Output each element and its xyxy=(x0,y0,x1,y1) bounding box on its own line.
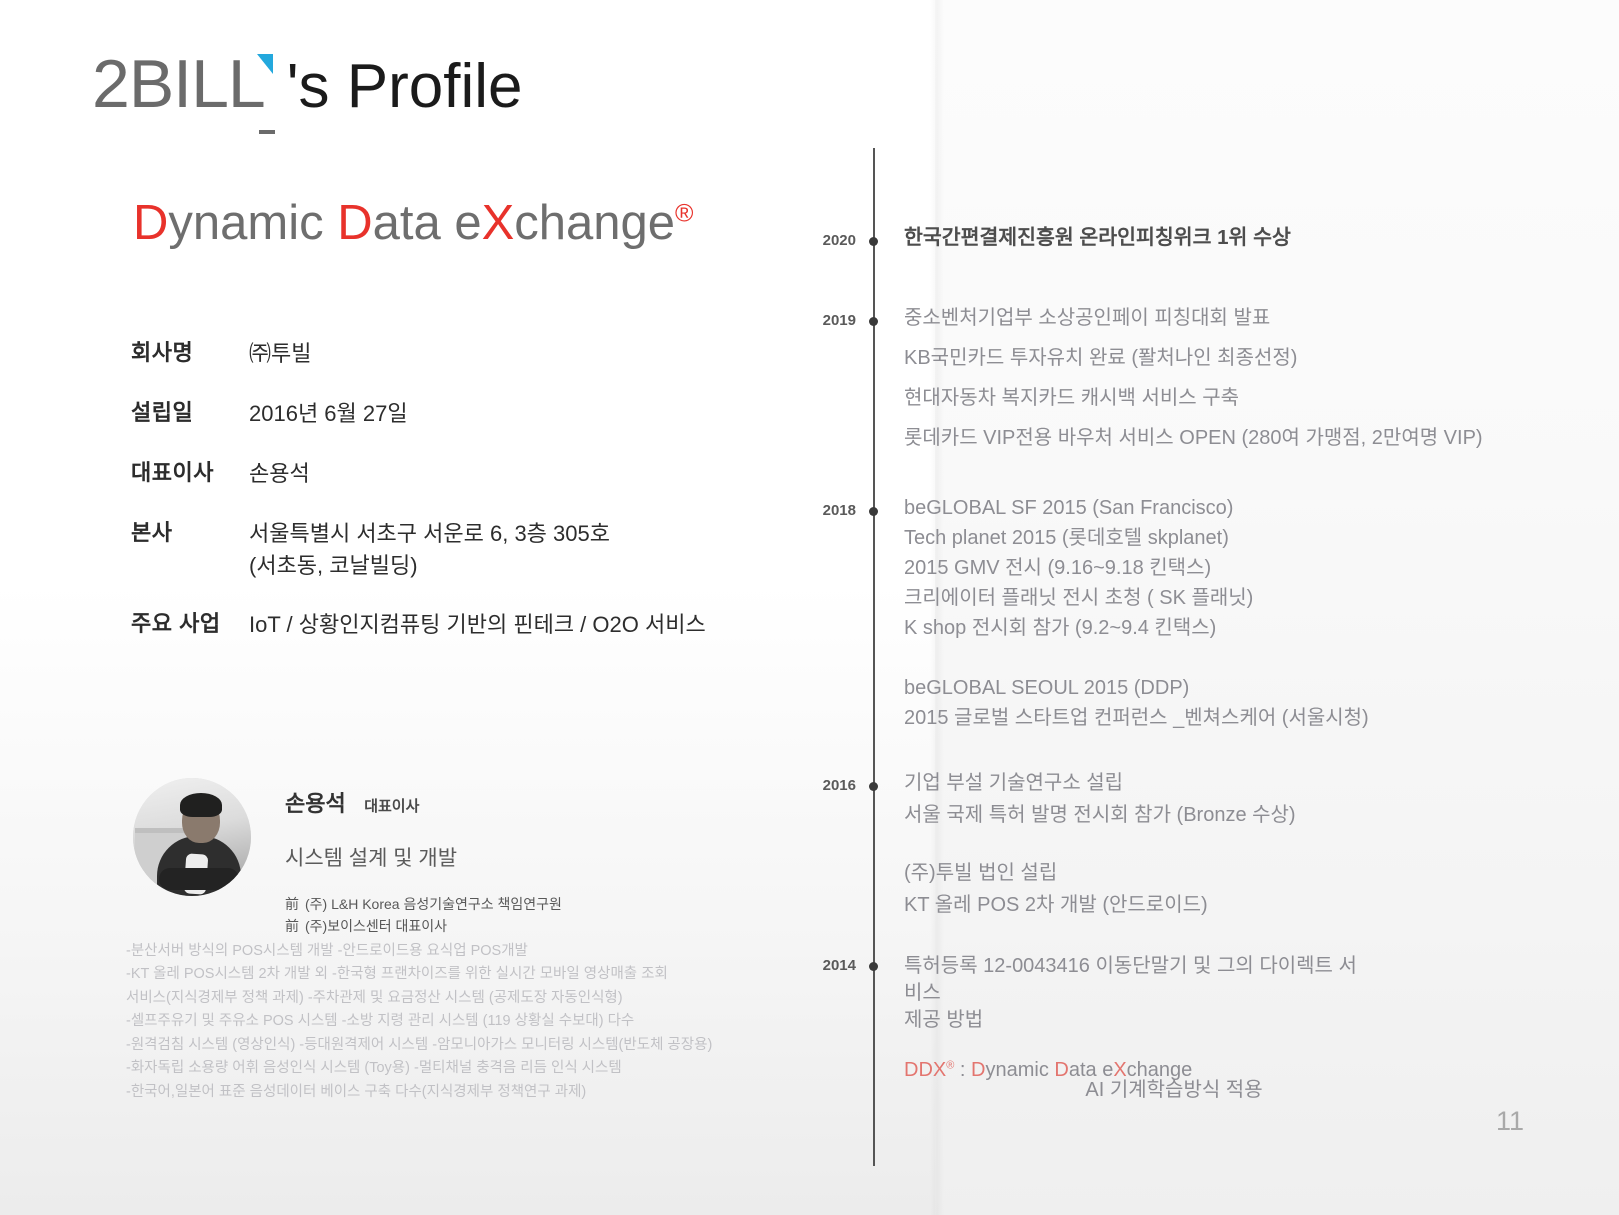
ceo-history-prefix: 前 xyxy=(285,896,299,912)
ceo-name: 손용석 xyxy=(285,786,346,818)
ddx-headline-x: X xyxy=(482,196,515,250)
timeline-axis-line xyxy=(873,148,875,1166)
ceo-profile: 손용석 대표이사 시스템 설계 및 개발 前(주) L&H Korea 음성기술… xyxy=(133,778,562,937)
ddx-x: X xyxy=(1113,1059,1126,1081)
slide-canvas: 2BILL 's Profile Dynamic Data eXchange® … xyxy=(0,0,1619,1215)
ddx-change: change xyxy=(1127,1059,1193,1081)
ceo-history: 前(주) L&H Korea 음성기술연구소 책임연구원 前(주)보이스센터 대… xyxy=(285,894,562,937)
info-label: 회사명 xyxy=(131,338,249,368)
slide-header: 2BILL 's Profile xyxy=(92,50,523,118)
project-history-list: -분산서버 방식의 POS시스템 개발 -안드로이드용 요식업 POS개발 -K… xyxy=(126,940,816,1104)
timeline-entry: K shop 전시회 참가 (9.2~9.4 킨택스) xyxy=(904,618,1604,638)
list-item: -한국어,일본어 표준 음성데이터 베이스 구축 다수(지식경제부 정책연구 과… xyxy=(126,1081,816,1104)
timeline-entry: KT 올레 POS 2차 개발 (안드로이드) xyxy=(904,895,1604,915)
ceo-role: 대표이사 xyxy=(364,795,419,816)
ceo-history-text: (주) L&H Korea 음성기술연구소 책임연구원 xyxy=(305,896,562,912)
timeline-items: beGLOBAL SEOUL 2015 (DDP) 2015 글로벌 스타트업 … xyxy=(904,678,1604,738)
timeline-entry: 2015 글로벌 스타트업 컨퍼런스 _벤쳐스케어 (서울시청) xyxy=(904,708,1604,728)
timeline-year-label: 2020 xyxy=(823,232,856,249)
ddx-headline-d2: D xyxy=(337,196,372,250)
ddx-abbr: DDX xyxy=(904,1059,946,1081)
timeline-entry: KB국민카드 투자유치 완료 (퐐처나인 최종선정) xyxy=(904,348,1604,368)
list-item: -화자독립 소용량 어휘 음성인식 시스템 (Toy용) -멀티채널 충격음 리… xyxy=(126,1057,816,1080)
info-label: 설립일 xyxy=(131,398,249,428)
info-value: 손용석 xyxy=(249,458,310,490)
timeline-year-label: 2014 xyxy=(823,957,856,974)
logo-accent-triangle-icon xyxy=(257,54,273,74)
table-row: 회사명 ㈜투빌 xyxy=(131,338,831,370)
timeline-dot-icon xyxy=(869,237,878,246)
company-timeline: 2020 한국간편결제진흥원 온라인피칭위크 1위 수상 2019 중소벤처기업… xyxy=(872,148,876,1166)
ddx-headline-change: change xyxy=(514,196,675,250)
table-row: 주요 사업 IoT / 상황인지컴퓨팅 기반의 핀테크 / O2O 서비스 xyxy=(131,609,831,641)
timeline-entry: 크리에이터 플래닛 전시 초청 ( SK 플래닛) xyxy=(904,588,1604,608)
timeline-entry: Tech planet 2015 (롯데호텔 skplanet) xyxy=(904,528,1604,548)
timeline-entry: 기업 부설 기술연구소 설립 xyxy=(904,773,1604,793)
timeline-entry: 중소벤처기업부 소상공인페이 피칭대회 발표 xyxy=(904,308,1604,328)
ddx-headline-ata: ata e xyxy=(373,196,482,250)
page-number: 11 xyxy=(1496,1106,1524,1137)
brand-logo: 2BILL xyxy=(92,50,265,118)
table-row: 대표이사 손용석 xyxy=(131,458,831,490)
timeline-entry: 한국간편결제진흥원 온라인피칭위크 1위 수상 xyxy=(904,228,1604,249)
logo-underline-icon xyxy=(259,76,275,134)
ddx-separator: : xyxy=(954,1059,971,1081)
timeline-dot-icon xyxy=(869,962,878,971)
timeline-entry: 2015 GMV 전시 (9.16~9.18 킨택스) xyxy=(904,558,1604,578)
ddx-second-line: AI 기계학습방식 적용 xyxy=(904,1080,1604,1100)
timeline-year-label: 2016 xyxy=(823,777,856,794)
timeline-year-label: 2019 xyxy=(823,312,856,329)
ddx-d2: D xyxy=(1054,1059,1068,1081)
timeline-items: 기업 부설 기술연구소 설립 서울 국제 특허 발명 전시회 참가 (Bronz… xyxy=(904,773,1604,837)
timeline-entry: (주)투빌 법인 설립 xyxy=(904,863,1604,883)
timeline-entry: 특허등록 12-0043416 이동단말기 및 그의 다이렉트 서비스 제공 방… xyxy=(904,953,1374,1034)
ddx-ata: ata e xyxy=(1069,1059,1113,1081)
list-item: 서비스(지식경제부 정책 과제) -주차관제 및 요금정산 시스템 (공제도장 … xyxy=(126,987,816,1010)
info-value: ㈜투빌 xyxy=(249,338,311,370)
timeline-items: beGLOBAL SF 2015 (San Francisco) Tech pl… xyxy=(904,498,1604,648)
list-item: -분산서버 방식의 POS시스템 개발 -안드로이드용 요식업 POS개발 xyxy=(126,940,816,963)
ceo-history-prefix: 前 xyxy=(285,918,299,934)
table-row: 본사 서울특별시 서초구 서운로 6, 3층 305호 (서초동, 코날빌딩) xyxy=(131,518,831,582)
timeline-entry: 서울 국제 특허 발명 전시회 참가 (Bronze 수상) xyxy=(904,805,1604,825)
timeline-dot-icon xyxy=(869,507,878,516)
timeline-entry: beGLOBAL SEOUL 2015 (DDP) xyxy=(904,678,1604,698)
timeline-items: (주)투빌 법인 설립 KT 올레 POS 2차 개발 (안드로이드) xyxy=(904,863,1604,927)
avatar-hair-shape xyxy=(180,793,222,817)
table-row: 설립일 2016년 6월 27일 xyxy=(131,398,831,430)
ddx-footnote: DDX® : Dynamic Data eXchange AI 기계학습방식 적… xyxy=(904,1060,1604,1100)
logo-text: 2BILL xyxy=(92,46,265,122)
timeline-entry: 현대자동차 복지카드 캐시백 서비스 구축 xyxy=(904,388,1604,408)
info-value: IoT / 상황인지컴퓨팅 기반의 핀테크 / O2O 서비스 xyxy=(249,609,706,641)
info-label: 주요 사업 xyxy=(131,609,249,639)
timeline-items: 중소벤처기업부 소상공인페이 피칭대회 발표 KB국민카드 투자유치 완료 (퐐… xyxy=(904,308,1604,468)
info-value: 2016년 6월 27일 xyxy=(249,398,408,430)
list-item: -셀프주유기 및 주유소 POS 시스템 -소방 지령 관리 시스템 (119 … xyxy=(126,1010,816,1033)
ceo-history-item: 前(주) L&H Korea 음성기술연구소 책임연구원 xyxy=(285,894,562,916)
list-item: -KT 올레 POS시스템 2차 개발 외 -한국형 프랜차이즈를 위한 실시간… xyxy=(126,963,816,986)
ceo-history-text: (주)보이스센터 대표이사 xyxy=(305,918,447,934)
ceo-text-block: 손용석 대표이사 시스템 설계 및 개발 前(주) L&H Korea 음성기술… xyxy=(285,778,562,937)
timeline-items: 특허등록 12-0043416 이동단말기 및 그의 다이렉트 서비스 제공 방… xyxy=(904,953,1604,1120)
timeline-dot-icon xyxy=(869,317,878,326)
info-value: 서울특별시 서초구 서운로 6, 3층 305호 (서초동, 코날빌딩) xyxy=(249,518,610,582)
ddx-headline-d1: D xyxy=(133,196,168,250)
timeline-entry: 롯데카드 VIP전용 바우처 서비스 OPEN (280여 가맹점, 2만여명 … xyxy=(904,428,1604,448)
avatar-arms-shape xyxy=(159,868,239,890)
list-item: -원격검침 시스템 (영상인식) -등대원격제어 시스템 -암모니아가스 모니터… xyxy=(126,1034,816,1057)
timeline-items: 한국간편결제진흥원 온라인피칭위크 1위 수상 xyxy=(904,228,1604,269)
registered-trademark-icon: ® xyxy=(675,200,693,228)
ceo-history-item: 前(주)보이스센터 대표이사 xyxy=(285,916,562,938)
ddx-headline: Dynamic Data eXchange® xyxy=(133,195,693,251)
timeline-dot-icon xyxy=(869,782,878,791)
avatar xyxy=(133,778,251,896)
ceo-specialty: 시스템 설계 및 개발 xyxy=(285,842,562,872)
ddx-ynamic: ynamic xyxy=(985,1059,1054,1081)
ceo-name-line: 손용석 대표이사 xyxy=(285,786,562,818)
ddx-headline-ynamic: ynamic xyxy=(168,196,337,250)
info-label: 본사 xyxy=(131,518,249,548)
info-label: 대표이사 xyxy=(131,458,249,488)
ddx-d1: D xyxy=(971,1059,985,1081)
company-info-table: 회사명 ㈜투빌 설립일 2016년 6월 27일 대표이사 손용석 본사 서울특… xyxy=(131,338,831,669)
timeline-entry: beGLOBAL SF 2015 (San Francisco) xyxy=(904,498,1604,518)
page-title: 's Profile xyxy=(287,56,523,118)
timeline-year-label: 2018 xyxy=(823,502,856,519)
